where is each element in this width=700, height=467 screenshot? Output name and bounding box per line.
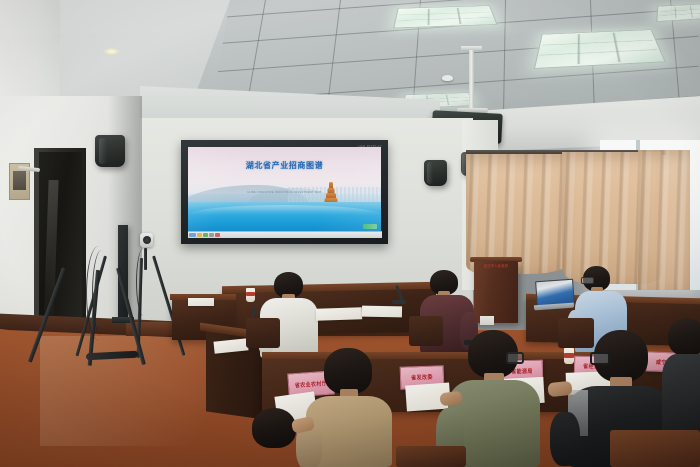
taskbar-item[interactable] [215,233,220,237]
curtain-panel-left [466,154,570,274]
participant-head [252,408,296,448]
wall-box-panel [13,171,26,190]
chair-back [409,316,443,346]
desk-microphone-base [392,300,406,304]
eyeglasses [506,352,524,364]
ceiling-light-panel [393,5,497,28]
speaker-podium[interactable]: 武汉市人民政府 [474,261,518,323]
chair-back [246,318,280,348]
wall-speaker-left [95,135,125,167]
taskbar-item[interactable] [197,233,202,237]
chair-back [610,430,700,467]
wall-speaker-right [424,160,447,186]
curtain-panel-right [638,150,690,290]
screen-surface: 湖北省产业招商图谱 HUBEI PROVINCE INDUSTRIAL INVE… [188,147,381,231]
participant-arm [550,412,580,466]
slide-subtitle-text: HUBEI PROVINCE INDUSTRIAL INVESTMENT MAP [188,191,381,194]
projector-mount-pole [469,48,474,110]
eyeglasses [590,352,610,365]
ceiling-downlight [103,48,120,55]
placard-text: 省发改委 [411,373,433,382]
camera-lens [143,236,151,244]
ceiling-light-panel [534,29,666,68]
participant-torso [662,354,700,434]
windows-taskbar[interactable] [188,231,382,238]
slide-logo [363,224,377,229]
led-display-screen[interactable]: LED DISPLAY 湖北省产业招商图谱 HUBEI PROVINCE IND… [181,140,388,244]
camera-cable [136,248,151,316]
document-paper [316,307,362,321]
podium-emblem-text: 武汉市人民政府 [474,263,518,268]
placard-text: 省农业农村厅 [295,379,328,389]
taskbar-item[interactable] [203,233,208,237]
ceiling-light-panel [656,3,700,21]
eyeglasses [581,277,594,284]
taskbar-item[interactable] [209,233,214,237]
podium-base [480,316,494,325]
conference-room-photo: LED DISPLAY 湖北省产业招商图谱 HUBEI PROVINCE IND… [0,0,700,467]
projector-ceiling-plate [461,46,482,50]
cup-band [246,292,255,296]
taskbar-start-button[interactable] [189,233,196,237]
cup-band [564,353,574,358]
document-paper [362,306,402,318]
slide-title-text: 湖北省产业招商图谱 [188,160,381,171]
chair-back [558,318,594,348]
participant-head [668,318,700,356]
smoke-detector [442,75,453,81]
participant-head [324,348,372,394]
chair-back [396,446,466,467]
document-paper [188,298,214,306]
equipment-cable [92,250,111,336]
